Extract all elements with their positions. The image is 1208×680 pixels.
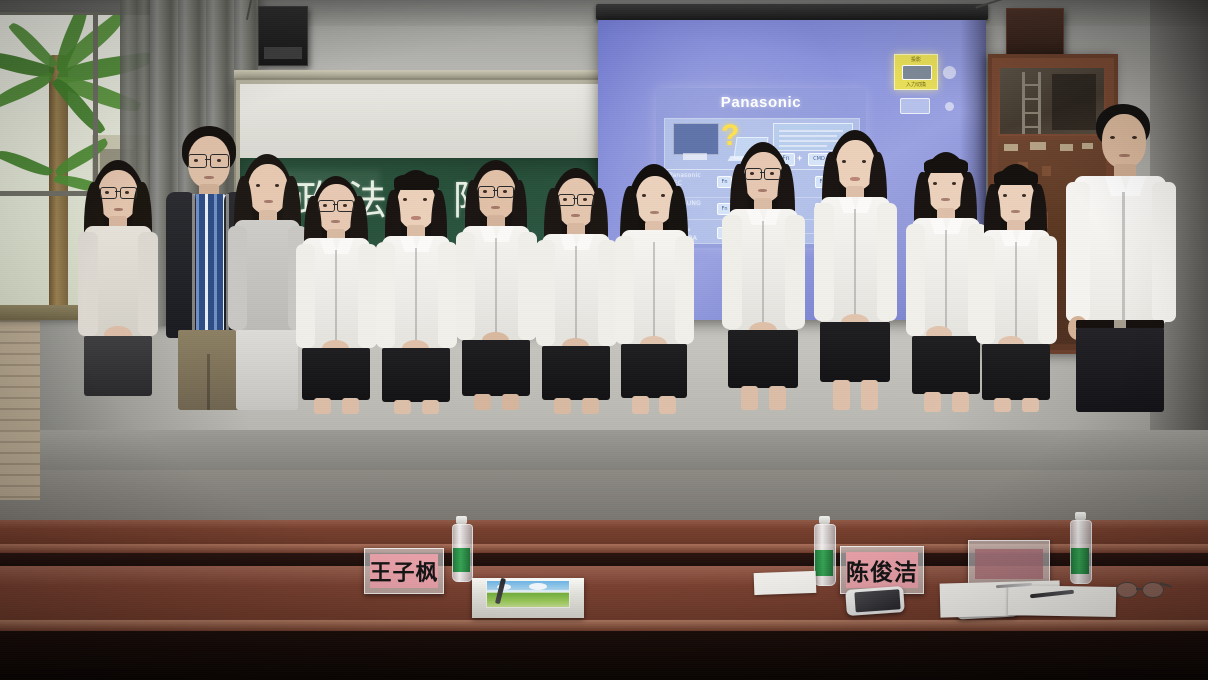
hair-bangs <box>924 158 968 173</box>
arm <box>78 232 98 336</box>
nameplate-name: 陈俊洁 <box>846 553 918 587</box>
arm <box>1152 182 1176 322</box>
smartphone[interactable] <box>845 586 905 616</box>
black-skirt <box>302 348 370 400</box>
arm <box>376 242 395 348</box>
water-bottle[interactable] <box>1068 512 1092 582</box>
arm <box>228 226 247 330</box>
arm <box>1038 236 1057 344</box>
front-table-skirt <box>0 631 1208 680</box>
person-9 <box>714 128 812 410</box>
black-skirt <box>982 344 1050 400</box>
person-12 <box>968 140 1064 412</box>
black-skirt <box>621 344 687 398</box>
arm <box>675 236 694 344</box>
nameplate-1[interactable]: 王子枫 <box>364 548 444 594</box>
arm <box>906 224 925 336</box>
arm <box>785 215 805 329</box>
photo-scene: 政法学院 新生职业规划大赛 Panasonic ? <box>0 0 1208 680</box>
water-bottle[interactable] <box>450 516 472 580</box>
arm <box>1066 182 1090 322</box>
black-skirt <box>820 322 890 382</box>
nameplate-card: 陈俊洁 <box>846 552 918 588</box>
eyeglasses[interactable] <box>1116 580 1172 600</box>
paper-stack[interactable] <box>472 578 584 618</box>
arm <box>877 203 897 321</box>
face <box>1102 114 1146 168</box>
arm <box>615 236 634 344</box>
arm <box>976 236 995 344</box>
black-skirt <box>542 346 610 400</box>
person-8 <box>606 142 702 414</box>
front-table-edge <box>0 620 1208 631</box>
white-papers[interactable] <box>754 571 817 595</box>
nameplate-card: 王子枫 <box>370 554 438 588</box>
nameplate-card-back <box>975 549 1043 579</box>
nameplate-name: 王子枫 <box>370 555 439 587</box>
arm <box>536 240 555 346</box>
person-13 <box>1062 102 1178 412</box>
group-of-people <box>0 0 1208 560</box>
hair-bangs <box>994 170 1038 185</box>
black-skirt <box>728 330 798 388</box>
trousers <box>1076 328 1164 412</box>
black-skirt <box>382 348 450 402</box>
skirt <box>84 336 152 396</box>
arm <box>456 232 475 340</box>
arm <box>296 244 315 348</box>
white-papers[interactable] <box>1008 585 1117 617</box>
arm <box>814 203 834 321</box>
hair-bangs <box>394 174 439 190</box>
arm <box>722 215 742 329</box>
cardigan-trim <box>192 194 195 334</box>
black-skirt <box>462 340 530 396</box>
person-10 <box>806 122 904 410</box>
